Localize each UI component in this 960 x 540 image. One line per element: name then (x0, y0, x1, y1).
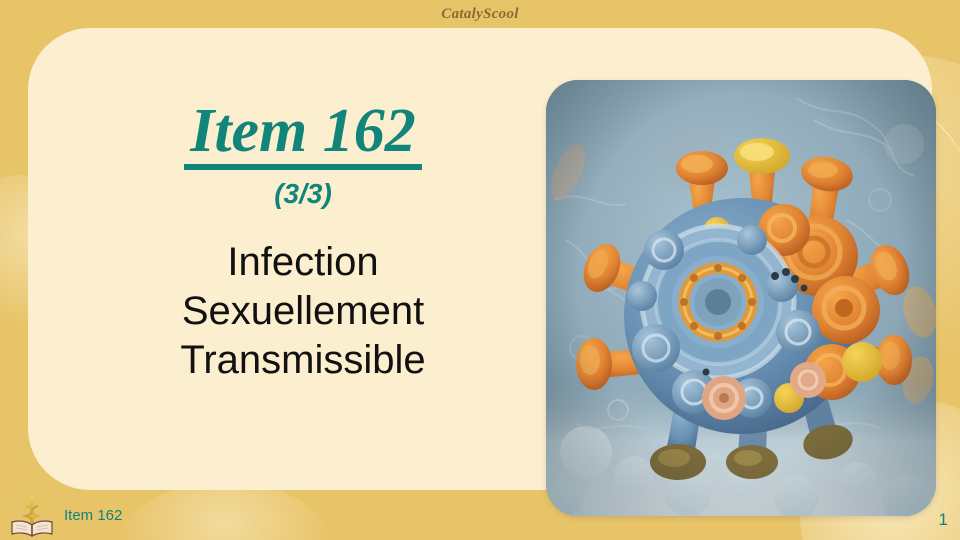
footer-left: Item 162 (8, 492, 122, 538)
content-card: Item 162 (3/3) Infection Sexuellement Tr… (28, 28, 932, 490)
body-line-3: Transmissible (68, 336, 538, 385)
slide-root: CatalyScool Item 162 (3/3) Infection Sex… (0, 0, 960, 540)
body-line-2: Sexuellement (68, 287, 538, 336)
top-banner: CatalyScool (0, 0, 960, 28)
page-number: 1 (939, 510, 948, 530)
caduceus-book-icon (8, 493, 56, 537)
virus-illustration (546, 80, 936, 516)
background-blob-bottom-left (120, 482, 330, 540)
body-line-1: Infection (68, 238, 538, 287)
brand-name: CatalyScool (441, 6, 518, 23)
page-subtitle: (3/3) (68, 180, 538, 208)
page-title: Item 162 (184, 100, 422, 170)
footer-label: Item 162 (64, 507, 122, 524)
text-column: Item 162 (3/3) Infection Sexuellement Tr… (68, 100, 538, 384)
virus-image-svg (546, 80, 936, 516)
body-text: Infection Sexuellement Transmissible (68, 238, 538, 384)
